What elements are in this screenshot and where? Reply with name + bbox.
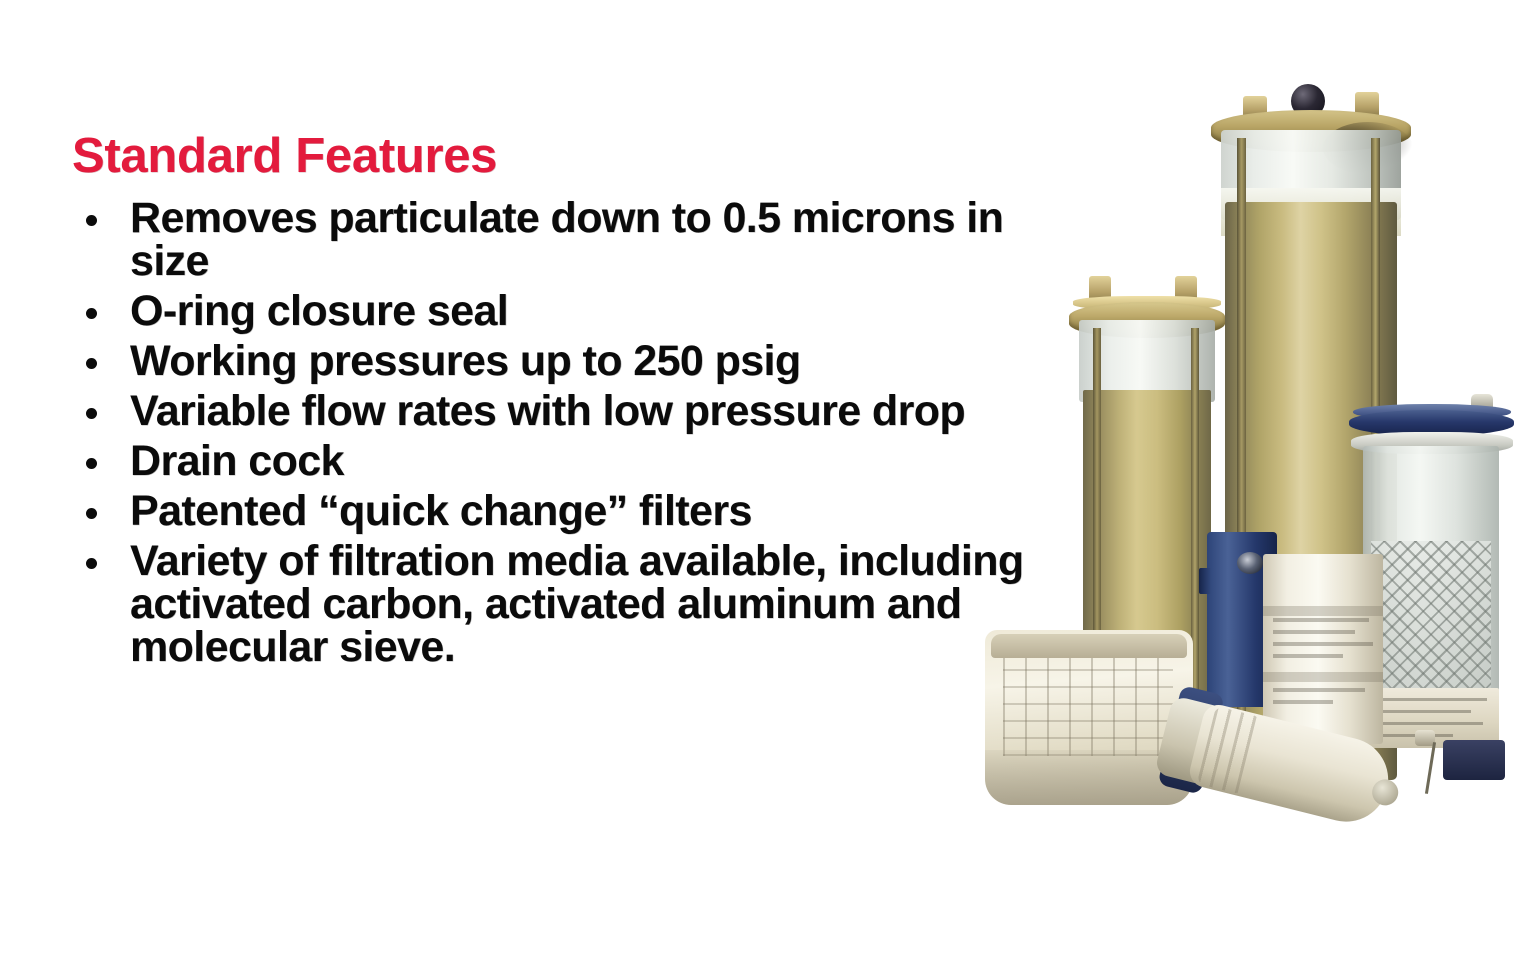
clear-bowl-body (1363, 446, 1499, 716)
list-item-label: O-ring closure seal (130, 290, 1032, 333)
page-title: Standard Features (72, 132, 1032, 181)
bullet-icon (86, 408, 97, 419)
list-item-label: Removes particulate down to 0.5 microns … (130, 197, 1032, 283)
bowl-foot (1443, 740, 1505, 780)
list-item: Drain cock (72, 440, 1032, 483)
feature-list: Removes particulate down to 0.5 microns … (72, 197, 1032, 669)
bullet-icon (86, 215, 97, 226)
list-item-label: Drain cock (130, 440, 1032, 483)
bullet-icon (86, 308, 97, 319)
pack-printed-grid (1003, 658, 1173, 756)
list-item: Working pressures up to 250 psig (72, 340, 1032, 383)
list-item: Removes particulate down to 0.5 microns … (72, 197, 1032, 283)
pack-crimp (991, 634, 1187, 658)
list-item-label: Working pressures up to 250 psig (130, 340, 1032, 383)
product-photo (975, 82, 1520, 822)
mounting-tab (1199, 568, 1211, 594)
list-item-label: Patented “quick change” filters (130, 490, 1032, 533)
bullet-icon (86, 458, 97, 469)
bullet-icon (86, 508, 97, 519)
list-item-label: Variable flow rates with low pressure dr… (130, 390, 1032, 433)
features-text-column: Standard Features Removes particulate do… (72, 132, 1032, 676)
list-item: Variety of filtration media available, i… (72, 540, 1032, 669)
list-item: Variable flow rates with low pressure dr… (72, 390, 1032, 433)
list-item: O-ring closure seal (72, 290, 1032, 333)
bullet-icon (86, 558, 97, 569)
list-item: Patented “quick change” filters (72, 490, 1032, 533)
port-hole-icon (1237, 552, 1263, 574)
bullet-icon (86, 358, 97, 369)
list-item-label: Variety of filtration media available, i… (130, 540, 1032, 669)
slide-canvas: Standard Features Removes particulate do… (0, 0, 1538, 962)
